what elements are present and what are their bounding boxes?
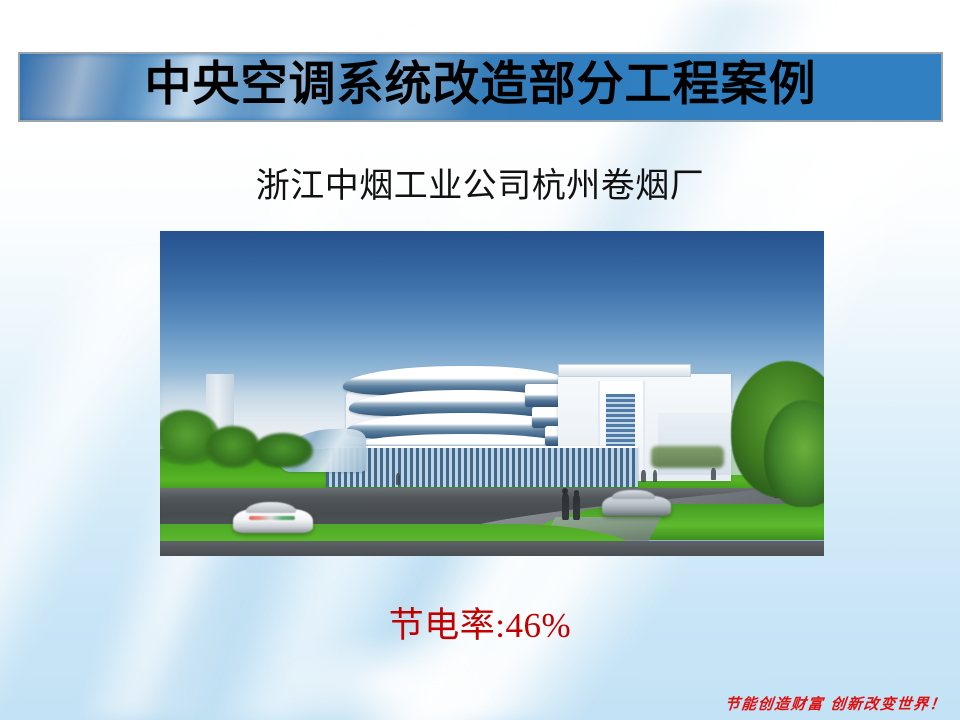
- image-tree-left-2: [206, 426, 259, 468]
- image-pedestrian-distant-1: [396, 473, 401, 485]
- image-tree-left-3: [253, 433, 313, 469]
- image-building-podium-glass: [326, 446, 638, 487]
- slide-title: 中央空调系统改造部分工程案例: [20, 54, 941, 120]
- building-rendering-image: [160, 231, 824, 556]
- image-right-tower-roof: [558, 364, 691, 377]
- title-banner: 中央空调系统改造部分工程案例: [18, 52, 943, 122]
- image-motion-blur-overlay: [160, 485, 824, 557]
- corner-slogan: 节能创造财富 创新改变世界！: [724, 693, 947, 714]
- energy-saving-rate: 节电率:46%: [0, 607, 960, 646]
- presentation-slide: 中央空调系统改造部分工程案例 浙江中烟工业公司杭州卷烟厂: [0, 0, 960, 720]
- image-pedestrian-distant-2: [641, 470, 646, 482]
- image-shrub-row: [651, 446, 724, 469]
- image-pedestrian-distant-4: [711, 468, 716, 480]
- image-pedestrian-distant-3: [653, 470, 658, 482]
- slide-subtitle: 浙江中烟工业公司杭州卷烟厂: [0, 168, 960, 205]
